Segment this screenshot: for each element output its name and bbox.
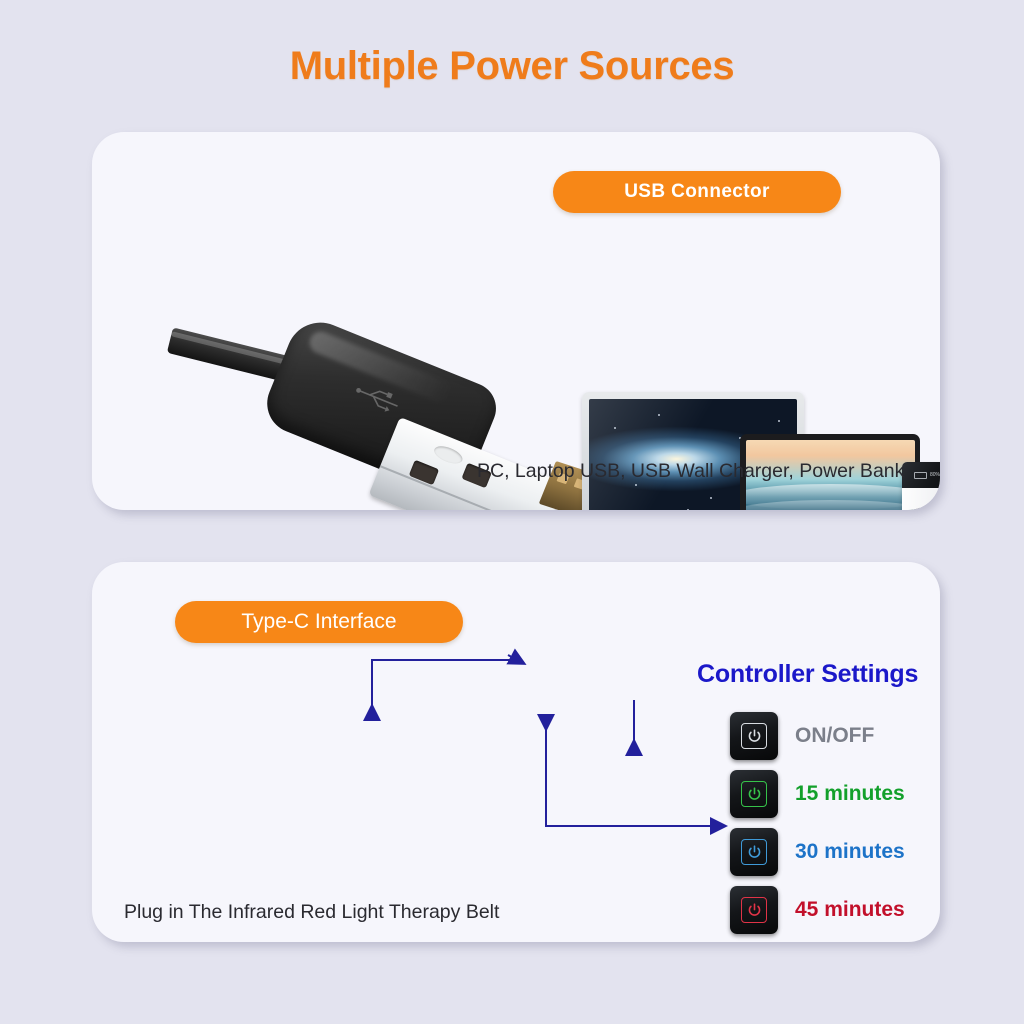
usb-a-cable-illustration xyxy=(162,297,522,510)
controller-button-15-minutes[interactable] xyxy=(730,770,778,818)
controller-setting-label: 15 minutes xyxy=(795,782,905,806)
controller-setting-label: 30 minutes xyxy=(795,840,905,864)
controller-button-45-minutes[interactable] xyxy=(730,886,778,934)
page-title: Multiple Power Sources xyxy=(0,44,1024,89)
usb-devices-caption: PC, Laptop USB, USB Wall Charger, Power … xyxy=(477,460,904,483)
controller-setting-row[interactable]: 30 minutes xyxy=(730,828,945,876)
controller-button-on-off[interactable] xyxy=(730,712,778,760)
compatible-devices-illustration: 80% xyxy=(572,384,940,510)
controller-setting-row[interactable]: 45 minutes xyxy=(730,886,945,934)
therapy-belt-caption: Plug in The Infrared Red Light Therapy B… xyxy=(124,901,499,924)
power-bank-display: 80% xyxy=(902,462,940,488)
controller-setting-row[interactable]: ON/OFF xyxy=(730,712,945,760)
power-icon xyxy=(741,781,767,807)
controller-setting-label: 45 minutes xyxy=(795,898,905,922)
power-icon xyxy=(741,897,767,923)
controller-setting-label: ON/OFF xyxy=(795,724,874,748)
power-icon xyxy=(741,723,767,749)
usb-connector-badge: USB Connector xyxy=(553,171,841,213)
power-icon xyxy=(741,839,767,865)
typec-interface-badge: Type-C Interface xyxy=(175,601,463,643)
power-bank-battery-text: 80% xyxy=(930,472,940,478)
controller-settings-heading: Controller Settings xyxy=(697,660,918,689)
power-bank: 80% xyxy=(902,462,940,510)
controller-button-30-minutes[interactable] xyxy=(730,828,778,876)
controller-setting-row[interactable]: 15 minutes xyxy=(730,770,945,818)
controller-settings-list: ON/OFF 15 minutes 30 minutes 45 minutes xyxy=(730,712,945,944)
